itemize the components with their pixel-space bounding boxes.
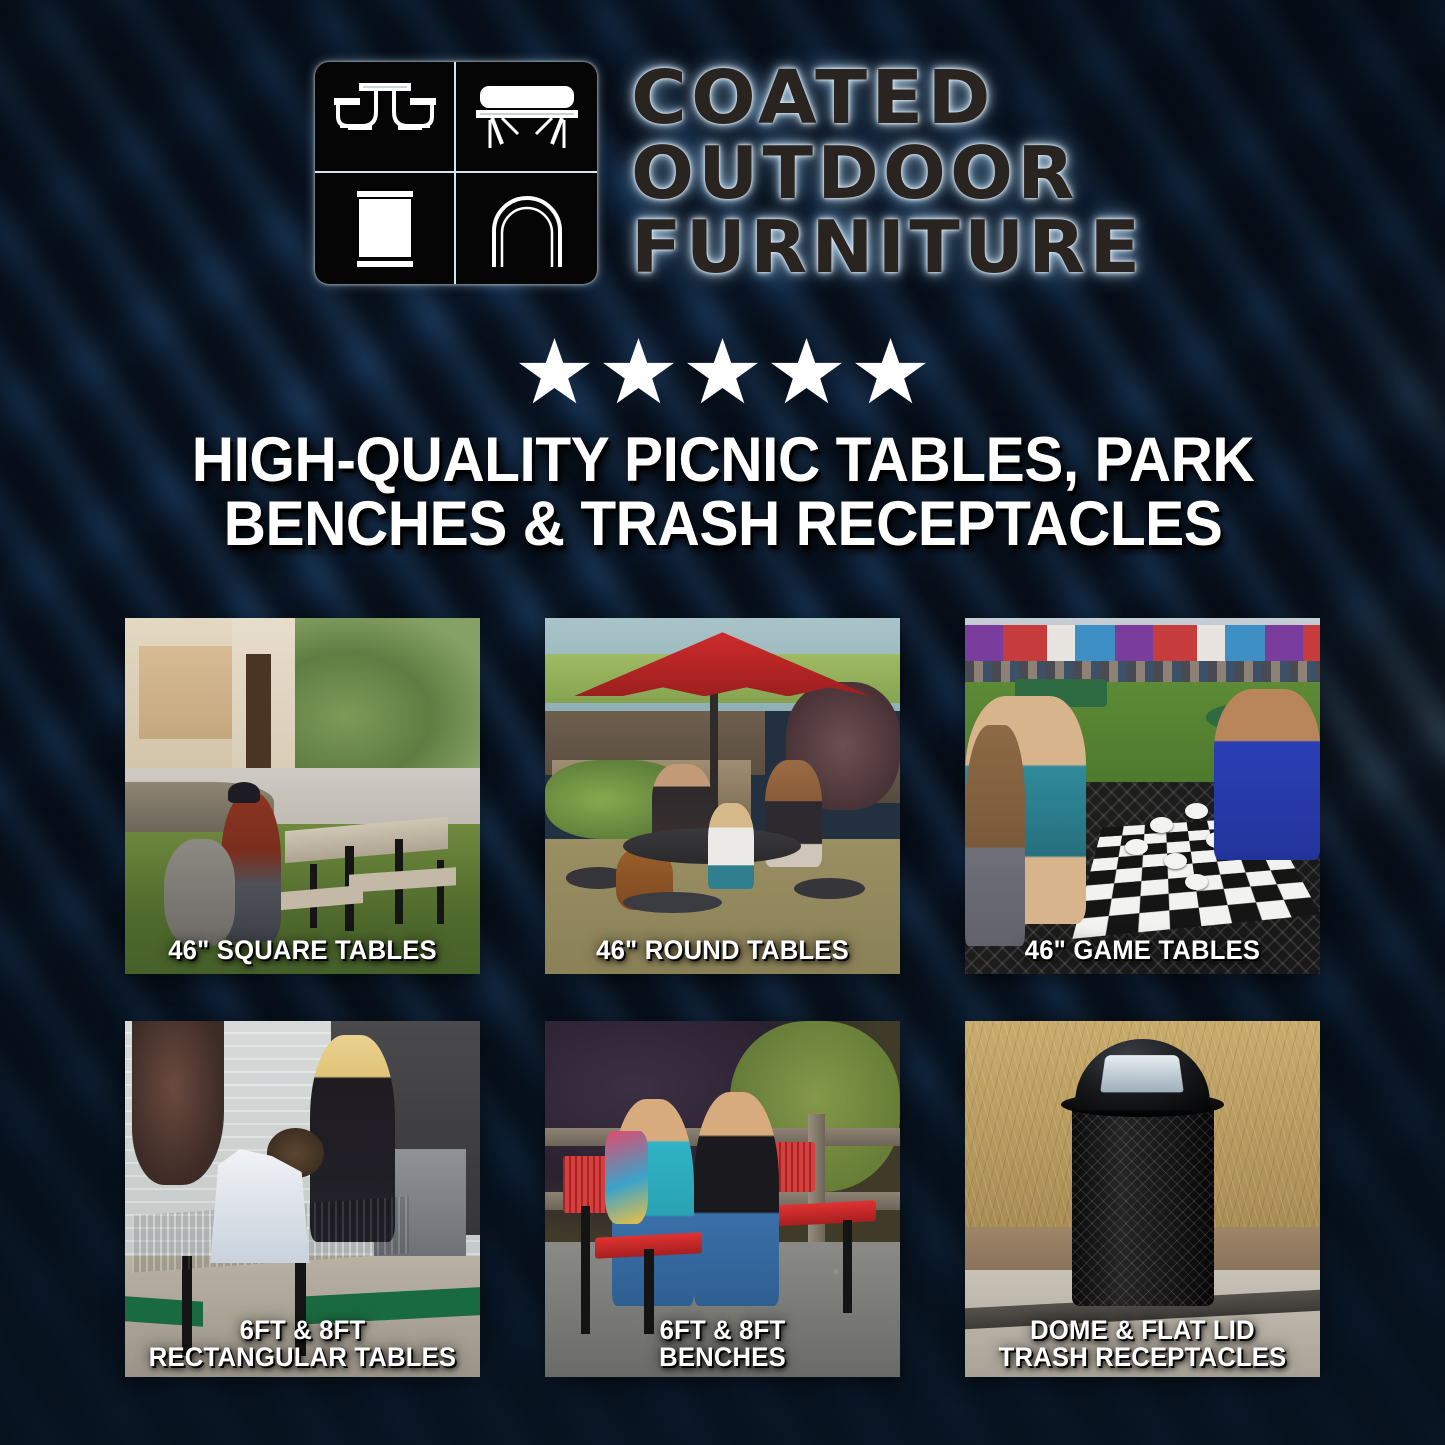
product-tile-benches[interactable]: 6FT & 8FT BENCHES	[545, 1021, 900, 1377]
tile-caption-line-2: TRASH RECEPTACLES	[980, 1344, 1306, 1371]
tile-caption-line-1: 46" SQUARE TABLES	[140, 937, 466, 964]
tile-caption-line-1: 6FT & 8FT	[140, 1317, 466, 1344]
tile-caption: 6FT & 8FT BENCHES	[551, 1317, 894, 1371]
star-icon	[518, 338, 592, 409]
dome-lid-icon	[456, 173, 597, 284]
product-tile-trash-receptacles[interactable]: DOME & FLAT LID TRASH RECEPTACLES	[965, 1021, 1320, 1377]
trash-receptacle-icon	[315, 173, 456, 284]
brand-word-outdoor: OUTDOOR	[631, 140, 1078, 207]
tile-caption: DOME & FLAT LID TRASH RECEPTACLES	[971, 1317, 1314, 1371]
brand-word-furniture: FURNITURE	[631, 214, 1144, 281]
brand-word-coated: COATED	[631, 64, 995, 133]
star-icon	[602, 338, 676, 409]
tile-caption-line-2: RECTANGULAR TABLES	[140, 1344, 466, 1371]
product-grid: 46" SQUARE TABLES	[125, 618, 1320, 1377]
star-icon	[854, 338, 928, 409]
promotional-poster: COATED OUTDOOR FURNITURE HIGH-QUALITY PI…	[0, 0, 1445, 1445]
game-tables-photo	[965, 618, 1320, 974]
round-tables-photo	[545, 618, 900, 974]
product-tile-square-tables[interactable]: 46" SQUARE TABLES	[125, 618, 480, 974]
logo-mark	[315, 62, 597, 284]
tile-caption: 46" ROUND TABLES	[551, 937, 894, 964]
star-icon	[686, 338, 760, 409]
tile-caption-line-1: DOME & FLAT LID	[980, 1317, 1306, 1344]
tile-caption-line-1: 46" ROUND TABLES	[560, 937, 886, 964]
product-tile-round-tables[interactable]: 46" ROUND TABLES	[545, 618, 900, 974]
tile-caption: 46" GAME TABLES	[971, 937, 1314, 964]
rating-stars	[0, 338, 1445, 409]
picnic-table-icon	[315, 62, 456, 173]
headline-line-2: BENCHES & TRASH RECEPTACLES	[141, 492, 1304, 556]
tile-caption: 6FT & 8FT RECTANGULAR TABLES	[131, 1317, 474, 1371]
square-tables-photo	[125, 618, 480, 974]
brand-logo: COATED OUTDOOR FURNITURE	[0, 62, 1445, 284]
headline-line-1: HIGH-QUALITY PICNIC TABLES, PARK	[141, 428, 1304, 492]
tile-caption-line-2: BENCHES	[560, 1344, 886, 1371]
page-title: HIGH-QUALITY PICNIC TABLES, PARK BENCHES…	[98, 428, 1348, 557]
bench-table-icon	[456, 62, 597, 173]
product-tile-rectangular-tables[interactable]: 6FT & 8FT RECTANGULAR TABLES	[125, 1021, 480, 1377]
product-tile-game-tables[interactable]: 46" GAME TABLES	[965, 618, 1320, 974]
tile-caption: 46" SQUARE TABLES	[131, 937, 474, 964]
brand-wordmark: COATED OUTDOOR FURNITURE	[631, 62, 1129, 281]
star-icon	[770, 338, 844, 409]
tile-caption-line-1: 46" GAME TABLES	[980, 937, 1306, 964]
tile-caption-line-1: 6FT & 8FT	[560, 1317, 886, 1344]
